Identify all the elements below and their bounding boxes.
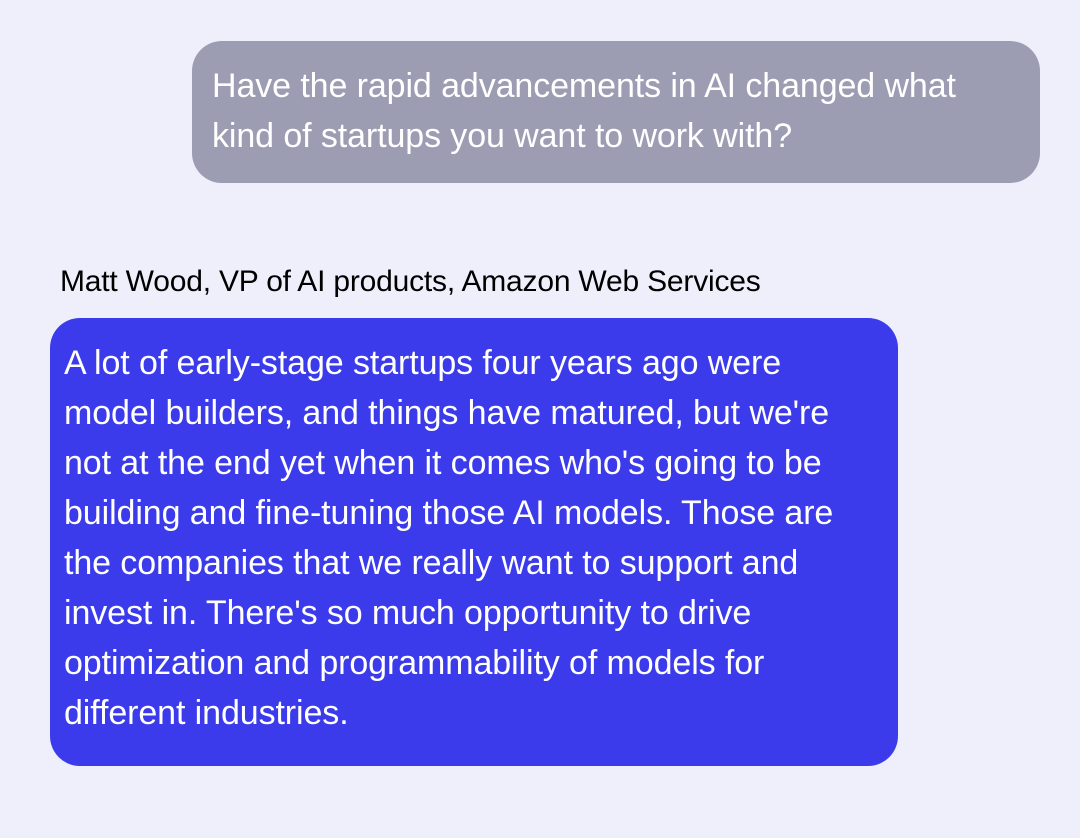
answer-bubble: A lot of early-stage startups four years… (50, 318, 898, 766)
question-bubble: Have the rapid advancements in AI change… (192, 41, 1040, 183)
speaker-attribution: Matt Wood, VP of AI products, Amazon Web… (60, 262, 761, 302)
answer-text: A lot of early-stage startups four years… (64, 338, 876, 738)
question-row: Have the rapid advancements in AI change… (0, 41, 1040, 183)
interview-quote-card: Have the rapid advancements in AI change… (0, 0, 1080, 838)
question-text: Have the rapid advancements in AI change… (212, 61, 1020, 161)
answer-row: A lot of early-stage startups four years… (50, 318, 898, 766)
